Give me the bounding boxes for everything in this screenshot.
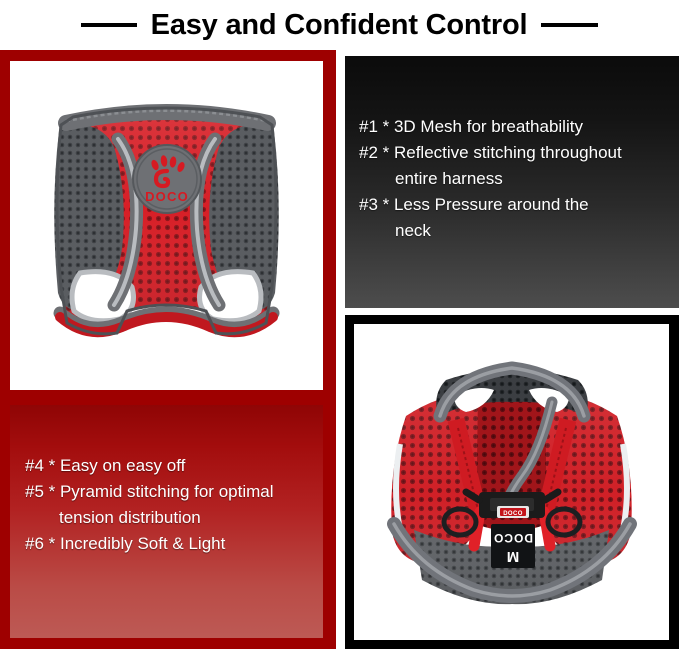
product-photo-front: DOCO xyxy=(10,61,323,390)
product-photo-back: DOCO M DOCO xyxy=(354,324,669,640)
feature-item-2-continuation: entire harness xyxy=(359,166,671,192)
dog-harness-front-illustration: DOCO xyxy=(10,61,323,390)
left-column: DOCO #4 * Easy on easy off #5 * Pyramid … xyxy=(0,50,336,649)
size-label-value: M xyxy=(507,548,520,565)
buckle-wordmark: DOCO xyxy=(503,511,523,517)
doco-badge-wordmark: DOCO xyxy=(145,189,189,204)
feature-panel-red: #4 * Easy on easy off #5 * Pyramid stitc… xyxy=(10,405,323,638)
dog-harness-back-illustration: DOCO M DOCO xyxy=(354,324,669,640)
title-rule-right-icon xyxy=(541,23,598,27)
label-brand-wordmark: DOCO xyxy=(493,531,533,545)
size-care-label: M DOCO xyxy=(491,524,535,568)
right-column: #1 * 3D Mesh for breathability #2 * Refl… xyxy=(345,50,679,649)
title-rule-left-icon xyxy=(81,23,137,27)
feature-panel-dark: #1 * 3D Mesh for breathability #2 * Refl… xyxy=(345,56,679,308)
product-photo-front-frame: DOCO xyxy=(10,61,323,390)
doco-logo-badge: DOCO xyxy=(133,145,201,213)
feature-item-6: #6 * Incredibly Soft & Light xyxy=(25,531,315,557)
feature-item-3-continuation: neck xyxy=(359,218,671,244)
feature-item-2: #2 * Reflective stitching throughout xyxy=(359,140,671,166)
page-header: Easy and Confident Control xyxy=(0,0,679,50)
feature-item-5-continuation: tension distribution xyxy=(25,505,315,531)
harness-buckle: DOCO xyxy=(466,492,558,518)
page-title: Easy and Confident Control xyxy=(151,11,528,40)
product-photo-back-frame: DOCO M DOCO xyxy=(345,315,679,649)
feature-item-1: #1 * 3D Mesh for breathability xyxy=(359,114,671,140)
feature-item-3: #3 * Less Pressure around the xyxy=(359,192,671,218)
feature-item-5: #5 * Pyramid stitching for optimal xyxy=(25,479,315,505)
feature-list-dark: #1 * 3D Mesh for breathability #2 * Refl… xyxy=(359,114,671,244)
feature-list-red: #4 * Easy on easy off #5 * Pyramid stitc… xyxy=(25,453,315,557)
feature-item-4: #4 * Easy on easy off xyxy=(25,453,315,479)
